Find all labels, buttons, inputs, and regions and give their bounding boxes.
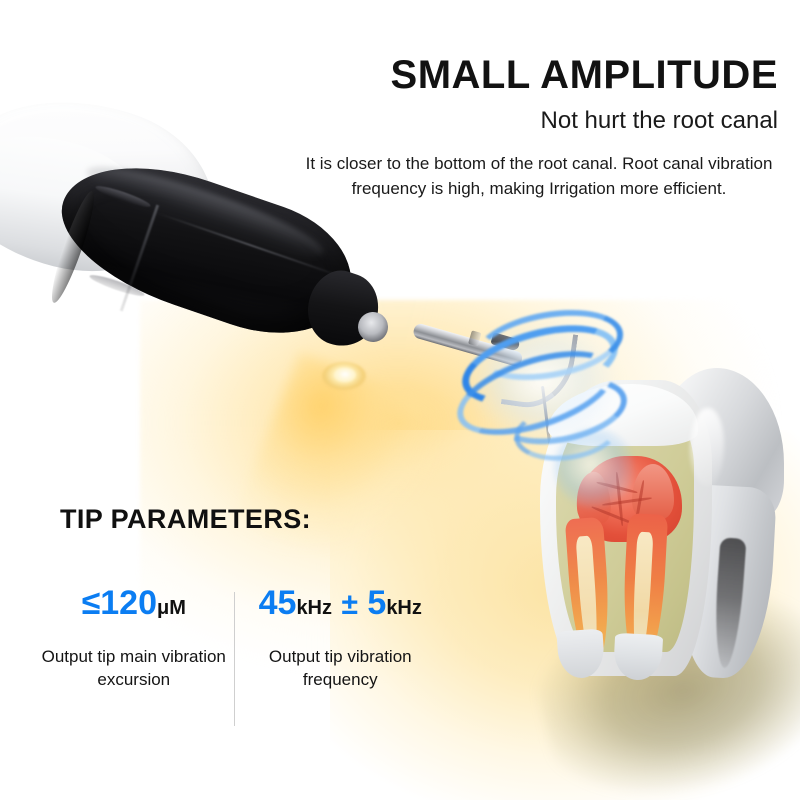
product-feature-slide: SMALL AMPLITUDE Not hurt the root canal … [0,0,800,800]
parameter-value-excursion: ≤120μM [40,586,228,620]
vibration-swirl-icon [452,296,632,466]
parameter-unit-2: kHz [386,597,422,619]
parameter-tolerance: 5 [367,584,386,622]
tooth-enamel-highlight [690,408,724,486]
parameter-caption-frequency: Output tip vibration frequency [241,646,440,692]
parameter-item-excursion: ≤120μM Output tip main vibration excursi… [40,586,228,692]
plus-minus-icon: ± [341,588,357,621]
parameter-number: ≤120 [82,584,157,622]
parameter-unit: kHz [296,597,332,619]
parameter-value-frequency: 45kHz ± 5kHz [241,586,440,620]
subheadline: Not hurt the root canal [300,106,778,136]
handpiece-illustration [0,96,430,426]
parameter-item-frequency: 45kHz ± 5kHz Output tip vibration freque… [241,586,440,692]
parameter-caption-excursion: Output tip main vibration excursion [40,646,228,692]
headline: SMALL AMPLITUDE [300,54,778,96]
parameter-divider [234,592,235,726]
led-light-core [334,368,356,382]
parameter-unit: μM [157,597,186,619]
tip-parameters-group: ≤120μM Output tip main vibration excursi… [40,586,440,726]
tip-parameters-title: TIP PARAMETERS: [60,504,311,535]
description-paragraph: It is closer to the bottom of the root c… [300,152,778,201]
parameter-number: 45 [259,584,297,622]
